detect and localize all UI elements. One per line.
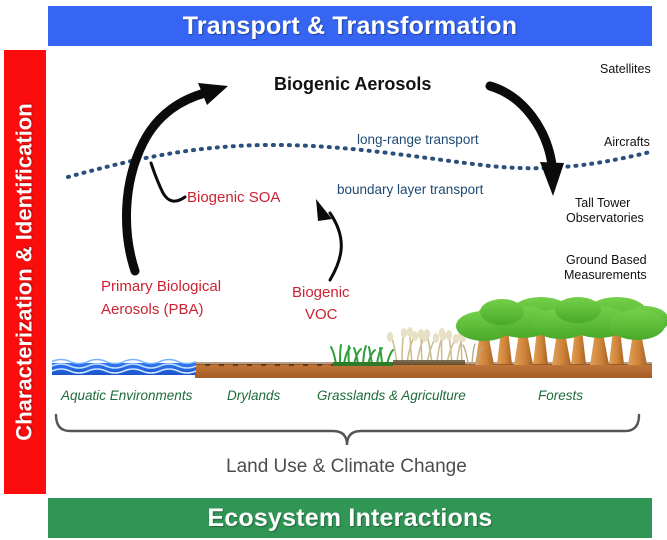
label-land-use-climate-change: Land Use & Climate Change [226,456,467,478]
diagram-canvas: Transport & Transformation Characterizat… [0,0,667,540]
